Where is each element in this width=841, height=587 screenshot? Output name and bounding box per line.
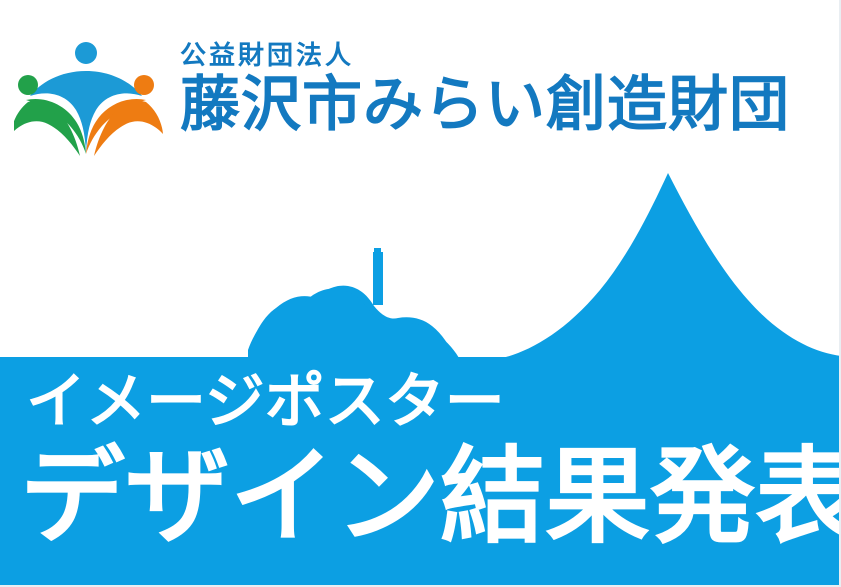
banner-title-line-1: イメージポスター <box>26 372 505 432</box>
organization-logo-lockup: 公益財団法人 藤沢市みらい創造財団 <box>0 0 841 170</box>
banner-title-line-2: デザイン結果発表 <box>20 445 841 550</box>
enoshima-fuji-silhouette-icon <box>0 160 841 360</box>
organization-name: 藤沢市みらい創造財団 <box>180 75 840 135</box>
title-banner: イメージポスター デザイン結果発表 <box>0 357 841 587</box>
organization-name-block: 公益財団法人 藤沢市みらい創造財団 <box>180 42 840 135</box>
poster-root: 公益財団法人 藤沢市みらい創造財団 イメージポスター デザイン結果発表 <box>0 0 841 587</box>
organization-prefix: 公益財団法人 <box>180 42 840 68</box>
foundation-logo-mark <box>14 38 174 156</box>
scenery-silhouette <box>0 160 841 360</box>
three-figures-fan-icon <box>14 38 174 156</box>
